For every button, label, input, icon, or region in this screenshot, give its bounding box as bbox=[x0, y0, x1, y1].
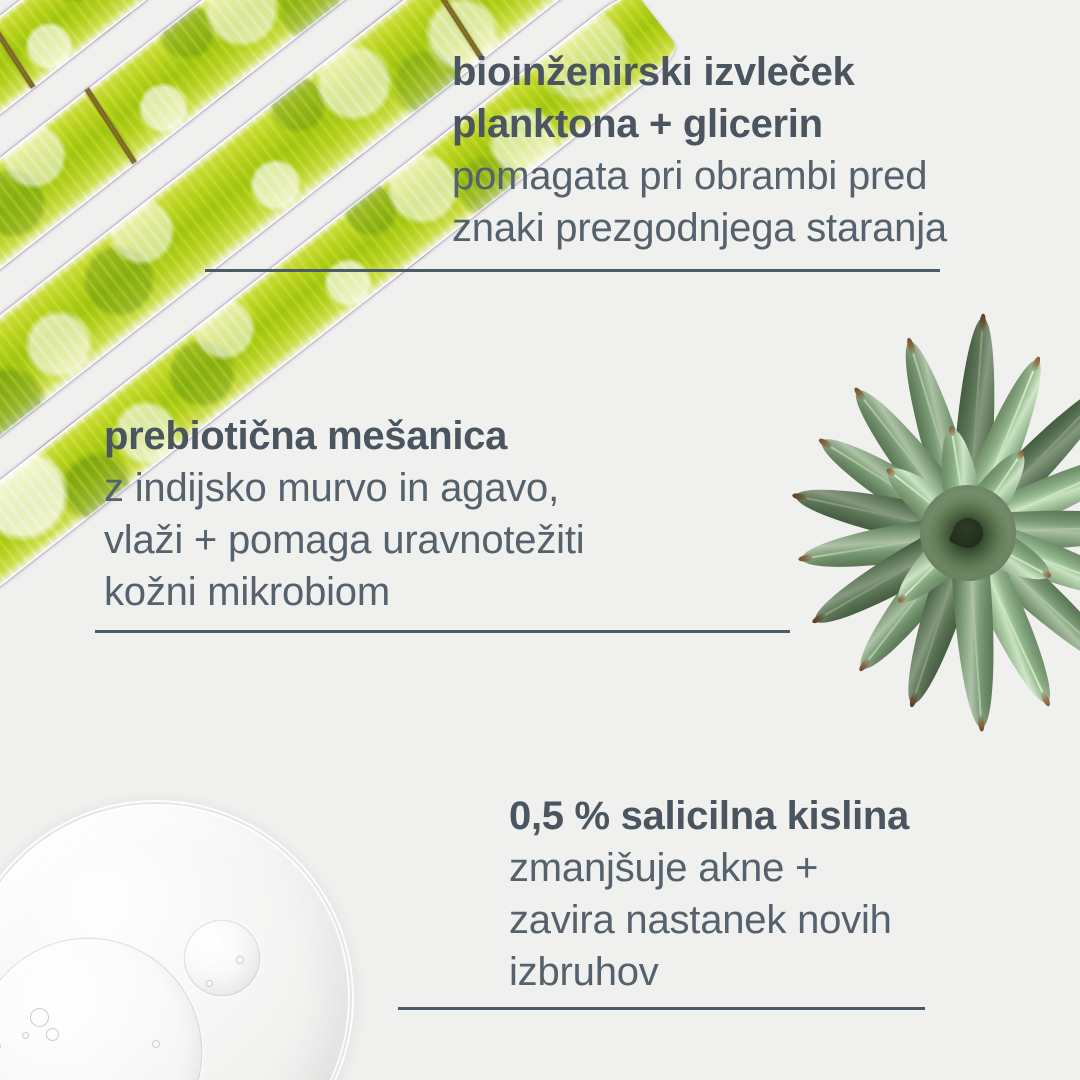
section-divider-3 bbox=[398, 1007, 925, 1010]
benefit-block-prebiotic: prebiotična mešanica z indijsko murvo in… bbox=[104, 410, 684, 618]
ingredient-benefits-panel: bioinženirski izvleček planktona + glice… bbox=[0, 0, 1080, 1080]
benefit-heading-plankton: bioinženirski izvleček planktona + glice… bbox=[452, 46, 1032, 150]
benefit-body-plankton: pomagata pri obrambi pred znaki prezgodn… bbox=[452, 150, 1032, 254]
benefit-block-salicylic: 0,5 % salicilna kislina zmanjšuje akne +… bbox=[509, 790, 1029, 998]
section-divider-1 bbox=[205, 269, 940, 272]
benefit-block-plankton: bioinženirski izvleček planktona + glice… bbox=[452, 46, 1032, 254]
benefit-heading-salicylic: 0,5 % salicilna kislina bbox=[509, 790, 1029, 842]
benefit-heading-prebiotic: prebiotična mešanica bbox=[104, 410, 684, 462]
benefit-body-salicylic: zmanjšuje akne + zavira nastanek novih i… bbox=[509, 842, 1029, 998]
content-layer: bioinženirski izvleček planktona + glice… bbox=[0, 0, 1080, 1080]
benefit-body-prebiotic: z indijsko murvo in agavo, vlaži + pomag… bbox=[104, 462, 684, 618]
section-divider-2 bbox=[95, 630, 790, 633]
